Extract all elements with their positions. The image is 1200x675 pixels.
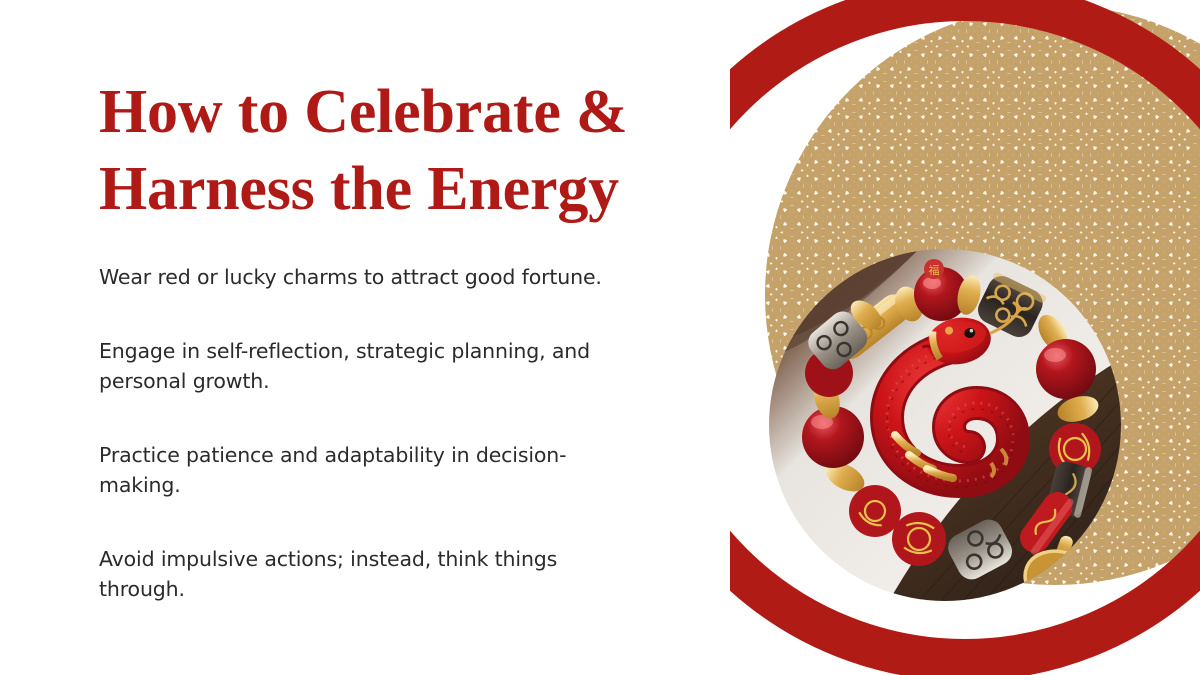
snake-bracelet-illustration: 福	[769, 249, 1121, 601]
title-line-1: How to Celebrate &	[99, 74, 739, 151]
svg-text:福: 福	[929, 263, 940, 277]
svg-text:福: 福	[1049, 569, 1071, 593]
snake-bracelet-photo: 福	[769, 249, 1121, 601]
list-item: Practice patience and adaptability in de…	[99, 441, 629, 501]
slide: 福	[0, 0, 1200, 675]
list-item: Wear red or lucky charms to attract good…	[99, 263, 629, 293]
bullet-list: Wear red or lucky charms to attract good…	[99, 263, 629, 604]
page-title: How to Celebrate & Harness the Energy	[99, 74, 739, 228]
title-line-2: Harness the Energy	[99, 151, 739, 228]
list-item: Avoid impulsive actions; instead, think …	[99, 545, 629, 605]
text-content: How to Celebrate & Harness the Energy We…	[99, 0, 719, 675]
list-item: Engage in self-reflection, strategic pla…	[99, 337, 629, 397]
